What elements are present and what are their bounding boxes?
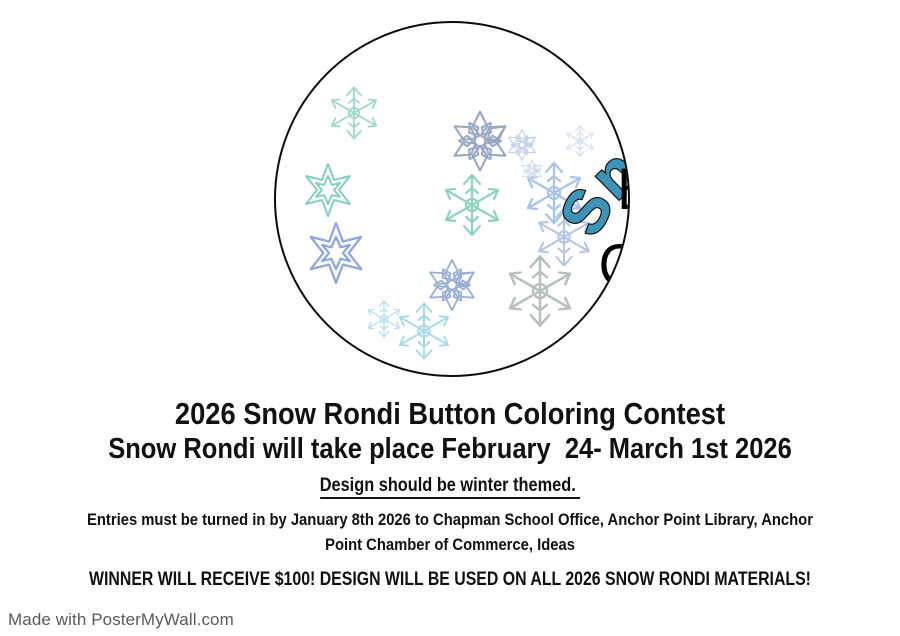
prize-announcement: WINNER WILL RECEIVE $100! DESIGN WILL BE…	[74, 566, 826, 594]
circular-badge: Snow Rondi BUTTON CONTEST FORMS	[274, 21, 630, 377]
badge-word-button: BUTTON	[617, 162, 630, 218]
poster-canvas: Snow Rondi BUTTON CONTEST FORMS 2026 Sno…	[0, 0, 900, 636]
poster-text-block: 2026 Snow Rondi Button Coloring Contest …	[0, 396, 900, 594]
theme-requirement-text: Design should be winter themed.	[320, 475, 581, 499]
badge-center-words: BUTTON CONTEST FORMS	[550, 44, 630, 377]
postermywall-watermark: Made with PosterMyWall.com	[8, 610, 234, 630]
submission-instructions: Entries must be turned in by January 8th…	[59, 507, 842, 557]
badge-word-contest: CONTEST	[599, 238, 630, 294]
event-dates-line: Snow Rondi will take place February 24- …	[54, 432, 846, 467]
theme-requirement-line: Design should be winter themed.	[63, 471, 837, 501]
contest-title: 2026 Snow Rondi Button Coloring Contest	[54, 396, 846, 432]
